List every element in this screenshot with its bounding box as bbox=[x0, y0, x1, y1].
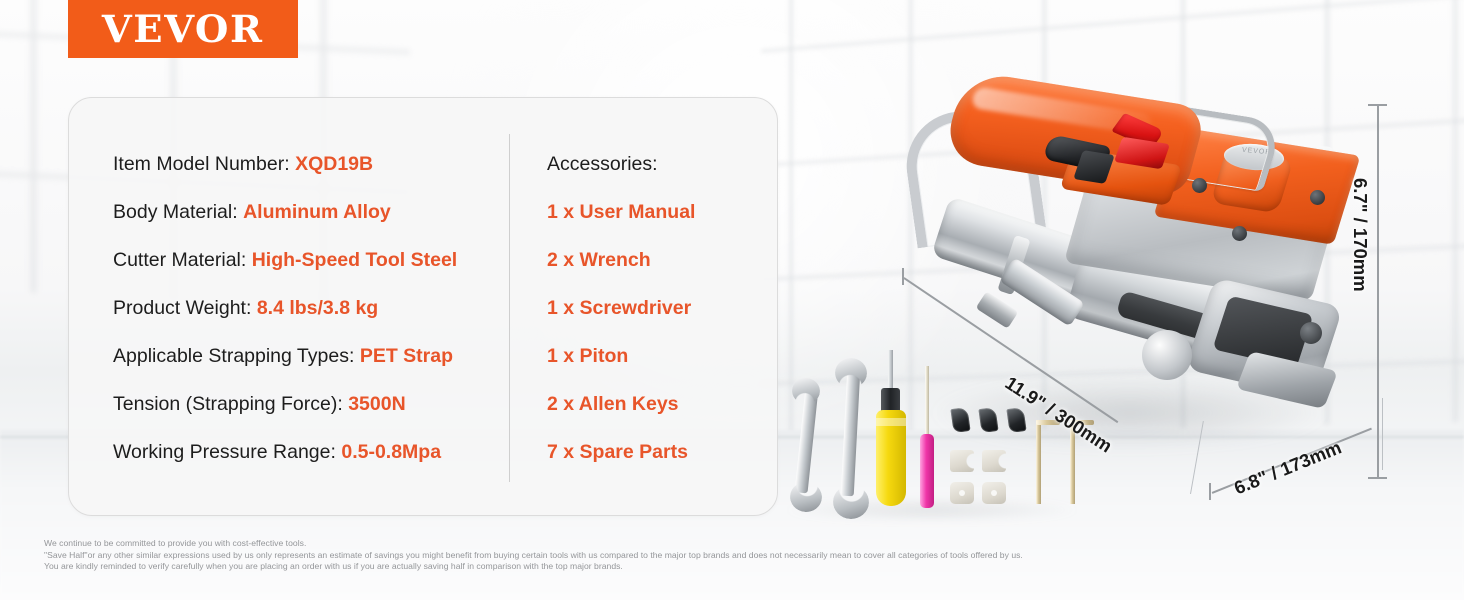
accessory-item: 1 x Screwdriver bbox=[547, 294, 767, 342]
height-dimension-label: 6.7" / 170mm bbox=[1349, 178, 1371, 292]
accessory-item: 2 x Wrench bbox=[547, 246, 767, 294]
tension-knob bbox=[1142, 330, 1192, 380]
screwdriver-grip-band bbox=[876, 418, 906, 426]
accessories-title: Accessories: bbox=[547, 150, 767, 198]
length-dimension-cap bbox=[902, 268, 904, 285]
spec-value: 3500N bbox=[348, 393, 405, 415]
spec-value: 0.5-0.8Mpa bbox=[341, 441, 441, 463]
specification-card: Item Model Number: XQD19B Body Material:… bbox=[68, 97, 778, 516]
spec-label: Body Material: bbox=[113, 201, 238, 223]
height-dimension-cap-bottom bbox=[1368, 477, 1387, 479]
vevor-logo: VEVOR bbox=[68, 0, 298, 58]
piton-icon bbox=[920, 434, 934, 508]
spec-label: Product Weight: bbox=[113, 297, 251, 319]
body-screw bbox=[1232, 226, 1247, 241]
disclaimer-text: We continue to be committed to provide y… bbox=[44, 538, 1344, 573]
card-column-divider bbox=[509, 134, 510, 482]
spec-list: Item Model Number: XQD19B Body Material:… bbox=[113, 150, 503, 486]
wrench-jaw bbox=[834, 357, 868, 389]
accessories-image-group bbox=[782, 348, 1092, 528]
accessory-item: 2 x Allen Keys bbox=[547, 390, 767, 438]
depth-guide-line-right bbox=[1382, 398, 1383, 470]
spec-label: Cutter Material: bbox=[113, 249, 246, 271]
depth-dimension-cap bbox=[1209, 483, 1211, 500]
cutter-blade-icon bbox=[1006, 407, 1026, 433]
spec-row: Cutter Material: High-Speed Tool Steel bbox=[113, 246, 503, 294]
spec-value: Aluminum Alloy bbox=[243, 201, 391, 223]
spec-row: Applicable Strapping Types: PET Strap bbox=[113, 342, 503, 390]
disclaimer-line-2: "Save Half"or any other similar expressi… bbox=[44, 550, 1344, 562]
spare-plate-icon bbox=[950, 450, 974, 472]
spec-row: Product Weight: 8.4 lbs/3.8 kg bbox=[113, 294, 503, 342]
spec-label: Applicable Strapping Types: bbox=[113, 345, 354, 367]
spec-value: 8.4 lbs/3.8 kg bbox=[257, 297, 378, 319]
height-dimension-line bbox=[1377, 104, 1379, 478]
cutter-blade-icon bbox=[950, 407, 970, 433]
spare-plate-hole bbox=[959, 490, 965, 496]
height-dimension-cap-top bbox=[1368, 104, 1387, 106]
spec-row: Item Model Number: XQD19B bbox=[113, 150, 503, 198]
spec-value: PET Strap bbox=[360, 345, 453, 367]
wrench-icon bbox=[841, 370, 861, 497]
spec-row: Tension (Strapping Force): 3500N bbox=[113, 390, 503, 438]
body-screw bbox=[1310, 190, 1325, 205]
allen-key-icon bbox=[1036, 420, 1041, 504]
spare-plate-hole bbox=[991, 490, 997, 496]
head-bolt bbox=[1300, 322, 1322, 344]
piton-shaft bbox=[925, 366, 929, 438]
accessory-item: 1 x User Manual bbox=[547, 198, 767, 246]
accessory-item: 1 x Piton bbox=[547, 342, 767, 390]
accessories-list: Accessories: 1 x User Manual 2 x Wrench … bbox=[547, 150, 767, 486]
air-inlet-tip bbox=[976, 291, 1019, 328]
product-infographic: VEVOR Item Model Number: XQD19B Body Mat… bbox=[0, 0, 1464, 600]
spec-label: Item Model Number: bbox=[113, 153, 290, 175]
vevor-logo-text: VEVOR bbox=[102, 7, 264, 51]
spec-value: High-Speed Tool Steel bbox=[252, 249, 457, 271]
spare-plate-icon bbox=[982, 450, 1006, 472]
spec-label: Working Pressure Range: bbox=[113, 441, 336, 463]
spec-label: Tension (Strapping Force): bbox=[113, 393, 343, 415]
disclaimer-line-1: We continue to be committed to provide y… bbox=[44, 538, 1344, 550]
spec-value: XQD19B bbox=[295, 153, 373, 175]
spec-row: Body Material: Aluminum Alloy bbox=[113, 198, 503, 246]
body-screw bbox=[1192, 178, 1207, 193]
accessory-item: 7 x Spare Parts bbox=[547, 438, 767, 486]
cutter-blade-icon bbox=[978, 407, 998, 433]
disclaimer-line-3: You are kindly reminded to verify carefu… bbox=[44, 561, 1344, 573]
spec-row: Working Pressure Range: 0.5-0.8Mpa bbox=[113, 438, 503, 486]
